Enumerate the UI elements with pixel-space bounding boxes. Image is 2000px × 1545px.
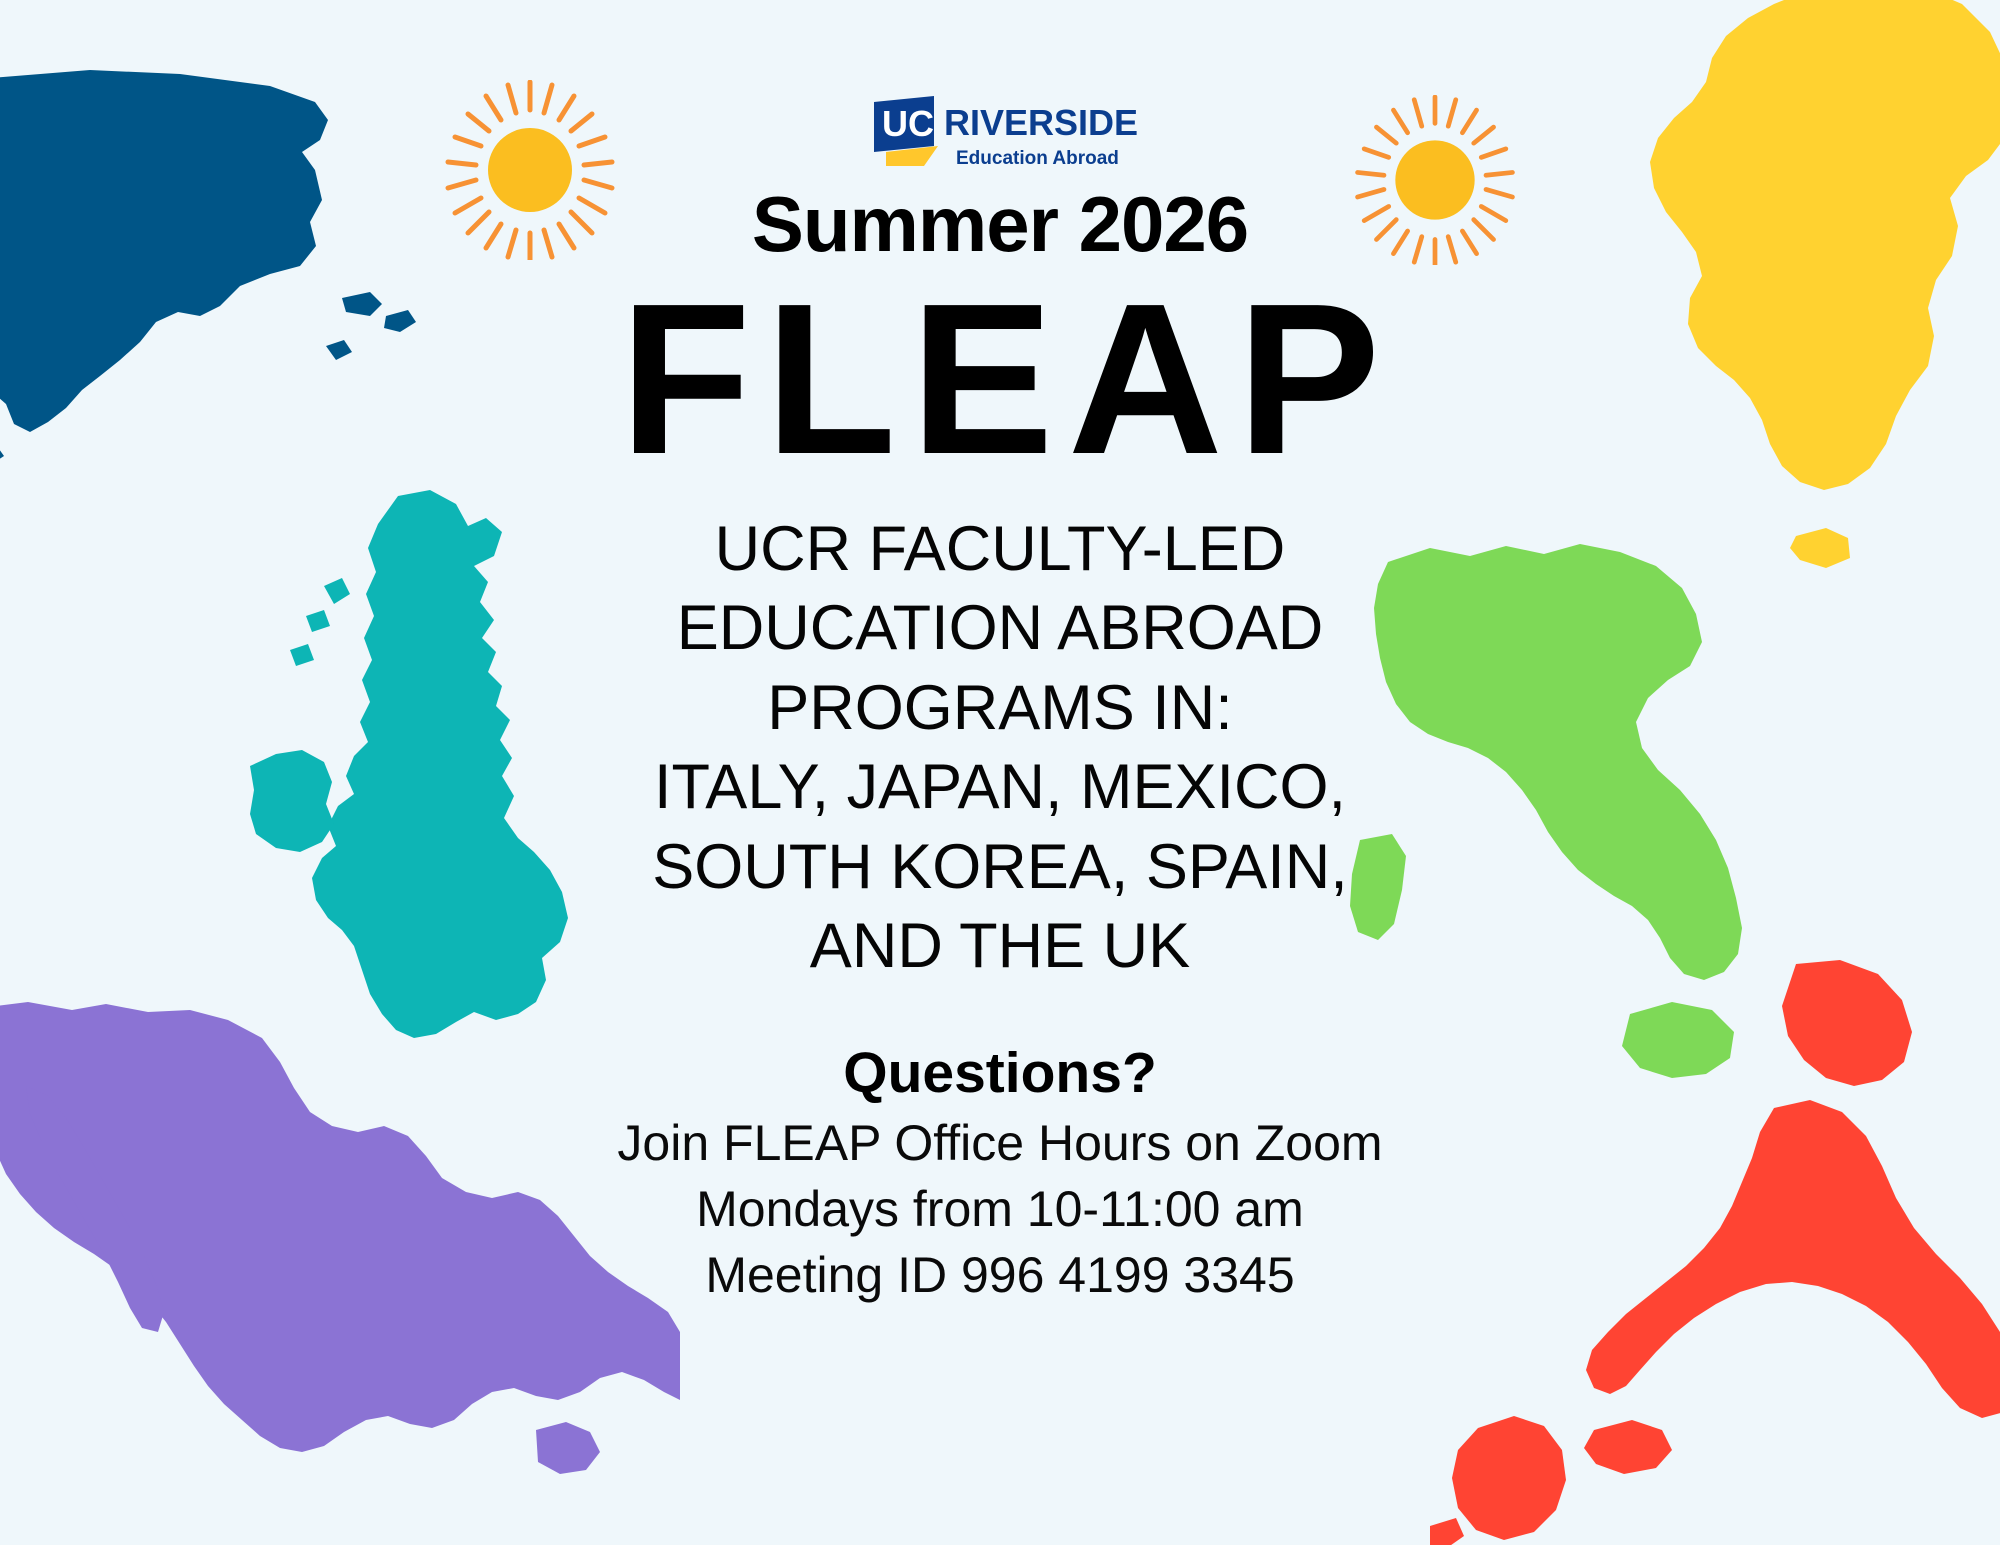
- map-south-korea: [1610, 0, 2000, 620]
- subhead-line-3: PROGRAMS IN:: [500, 669, 1500, 748]
- questions-section: Questions? Join FLEAP Office Hours on Zo…: [500, 1038, 1500, 1307]
- uc-badge-text: UC: [882, 103, 934, 144]
- page-title: FLEAP: [500, 271, 1500, 486]
- program-description: UCR FACULTY-LED EDUCATION ABROAD PROGRAM…: [500, 510, 1500, 986]
- subhead-line-2: EDUCATION ABROAD: [500, 589, 1500, 668]
- ucr-education-abroad-logo: UC RIVERSIDE Education Abroad: [872, 90, 1142, 172]
- zoom-meeting-id: Meeting ID 996 4199 3345: [500, 1242, 1500, 1308]
- subhead-line-4: ITALY, JAPAN, MEXICO,: [500, 748, 1500, 827]
- subhead-line-1: UCR FACULTY-LED: [500, 510, 1500, 589]
- questions-heading: Questions?: [500, 1038, 1500, 1109]
- fleap-summer-2026-poster: UC RIVERSIDE Education Abroad Summer 202…: [0, 0, 2000, 1545]
- office-hours-line: Join FLEAP Office Hours on Zoom: [500, 1110, 1500, 1176]
- subhead-line-6: AND THE UK: [500, 907, 1500, 986]
- subhead-line-5: SOUTH KOREA, SPAIN,: [500, 828, 1500, 907]
- poster-text-column: Summer 2026 FLEAP UCR FACULTY-LED EDUCAT…: [500, 185, 1500, 1308]
- office-hours-schedule: Mondays from 10-11:00 am: [500, 1176, 1500, 1242]
- season-year-heading: Summer 2026: [500, 185, 1500, 263]
- education-abroad-subtitle: Education Abroad: [956, 148, 1119, 169]
- map-japan: [1430, 960, 2000, 1545]
- map-spain: [0, 60, 450, 490]
- riverside-wordmark: RIVERSIDE: [944, 102, 1138, 143]
